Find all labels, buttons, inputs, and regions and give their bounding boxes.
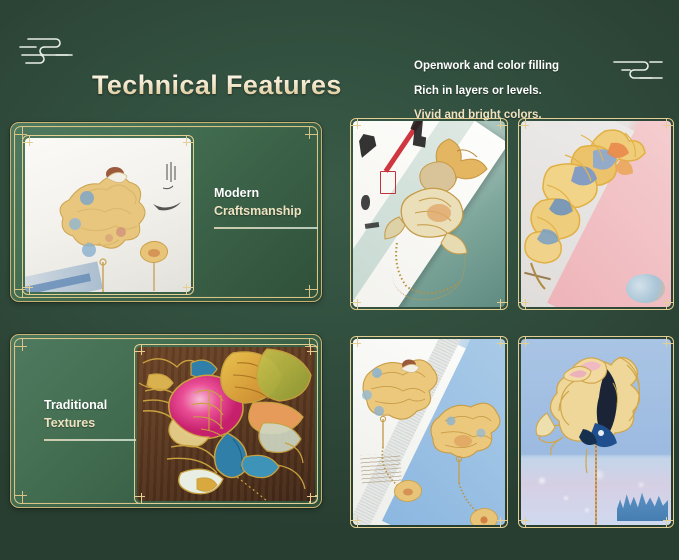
caption-line-1: Traditional [44,396,136,414]
photo-modern-craftsmanship[interactable] [22,135,194,295]
two-bookmarks-artwork [353,339,505,525]
caption-line-1: Modern [214,184,318,202]
caption-traditional-textures: Traditional Textures [44,396,136,441]
feature-bullet-1: Openwork and color filling [414,61,559,73]
photo-traditional-textures[interactable] [134,344,318,504]
caption-modern-craftsmanship: Modern Craftsmanship [214,184,318,229]
cloud-motif-icon [10,30,76,70]
fish-bookmark-artwork [353,121,505,307]
cloisonne-artwork [137,347,315,501]
corner-notch [14,338,27,351]
corner-notch [305,126,318,139]
koi-bookmark-artwork [521,339,671,525]
phoenix-bookmark-artwork [521,121,671,307]
feature-bullet-2: Rich in layers or levels. [414,86,559,98]
panel-modern-craftsmanship: Modern Craftsmanship [10,122,322,302]
panel-traditional-textures: Traditional Textures [10,334,322,508]
bookmark-artwork [25,138,191,292]
caption-underline [214,227,318,228]
photo-phoenix-bookmark-pink[interactable] [518,118,674,310]
photo-fish-bookmark-on-book[interactable] [350,118,508,310]
corner-notch [305,285,318,298]
caption-underline [44,439,136,440]
photo-koi-lotus-bookmark[interactable] [518,336,674,528]
page-title: Technical Features [92,70,342,101]
corner-notch [14,491,27,504]
feature-page: Technical Features Openwork and color fi… [0,0,679,560]
caption-line-2: Textures [44,414,136,432]
caption-line-2: Craftsmanship [214,202,318,220]
cloud-motif-icon [608,52,670,90]
page-header: Technical Features Openwork and color fi… [0,26,679,110]
photo-two-bookmarks-blue[interactable] [350,336,508,528]
